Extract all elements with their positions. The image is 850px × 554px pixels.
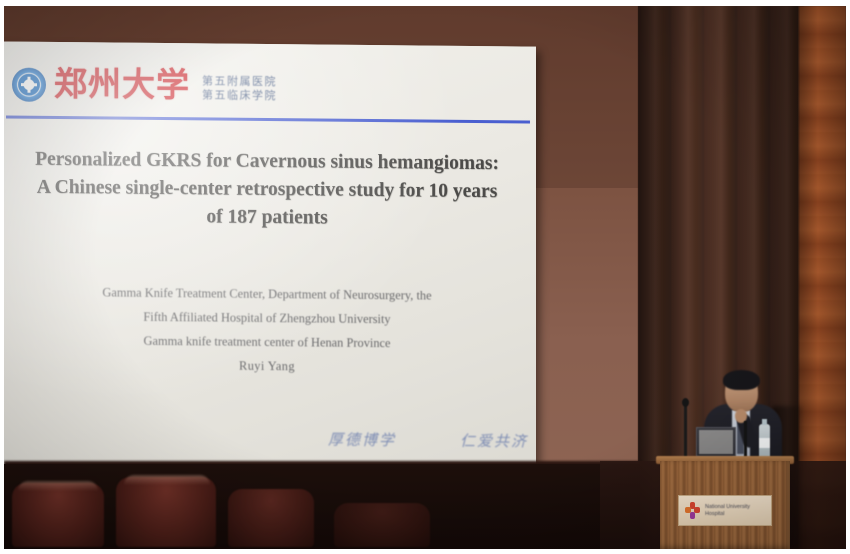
- microphone-stand-left: [684, 404, 687, 458]
- venue-sign-text: National University Hospital: [705, 504, 750, 518]
- slide-affiliation-block: Gamma Knife Treatment Center, Department…: [6, 279, 528, 380]
- audience-seating-area: [4, 464, 640, 549]
- presentation-slide: 郑州大学 第五附属医院 第五临床学院 Personalized GKRS for…: [4, 41, 536, 470]
- conference-photo: 郑州大学 第五附属医院 第五临床学院 Personalized GKRS for…: [0, 0, 850, 554]
- seat-row-chair: [116, 477, 216, 547]
- podium-laptop: [696, 427, 736, 457]
- venue-sign-line-1: National University: [705, 504, 750, 511]
- podium-venue-sign: National University Hospital: [678, 495, 772, 526]
- venue-sign-line-2: Hospital: [705, 511, 750, 518]
- speaker-hair: [723, 370, 760, 390]
- seat-row-chair: [12, 483, 104, 547]
- water-bottle: [759, 424, 770, 459]
- university-sub-line-1: 第五附属医院: [202, 75, 277, 88]
- university-sub-line-2: 第五临床学院: [202, 89, 277, 102]
- national-university-hospital-logo-icon: [685, 502, 700, 519]
- projection-screen: 郑州大学 第五附属医院 第五临床学院 Personalized GKRS for…: [4, 41, 536, 470]
- motto-left: 厚德博学: [328, 429, 396, 451]
- zhengzhou-university-emblem-icon: [12, 68, 46, 102]
- slide-title-line-3: of 187 patients: [6, 201, 528, 234]
- university-name-cn: 郑州大学: [54, 68, 190, 102]
- university-motto-calligraphy: 厚德博学 仁爱共济: [328, 429, 528, 452]
- header-divider-rule: [6, 115, 530, 123]
- seat-highlight: [18, 481, 98, 491]
- auditorium-scene: 郑州大学 第五附属医院 第五临床学院 Personalized GKRS for…: [4, 6, 846, 549]
- slide-title: Personalized GKRS for Cavernous sinus he…: [6, 145, 528, 234]
- laptop-screen: [699, 430, 733, 454]
- presenter-name: Ruyi Yang: [6, 351, 528, 380]
- slide-header: 郑州大学 第五附属医院 第五临床学院: [12, 56, 277, 117]
- university-subtitle: 第五附属医院 第五临床学院: [202, 75, 277, 102]
- water-bottle-label: [759, 438, 770, 448]
- microphone-stand-right: [744, 421, 747, 459]
- slide-title-line-2: A Chinese single-center retrospective st…: [6, 173, 528, 206]
- seat-row-chair: [228, 489, 314, 547]
- motto-right: 仁爱共济: [460, 430, 528, 452]
- seat-row-chair: [334, 503, 430, 547]
- seat-highlight: [124, 475, 210, 485]
